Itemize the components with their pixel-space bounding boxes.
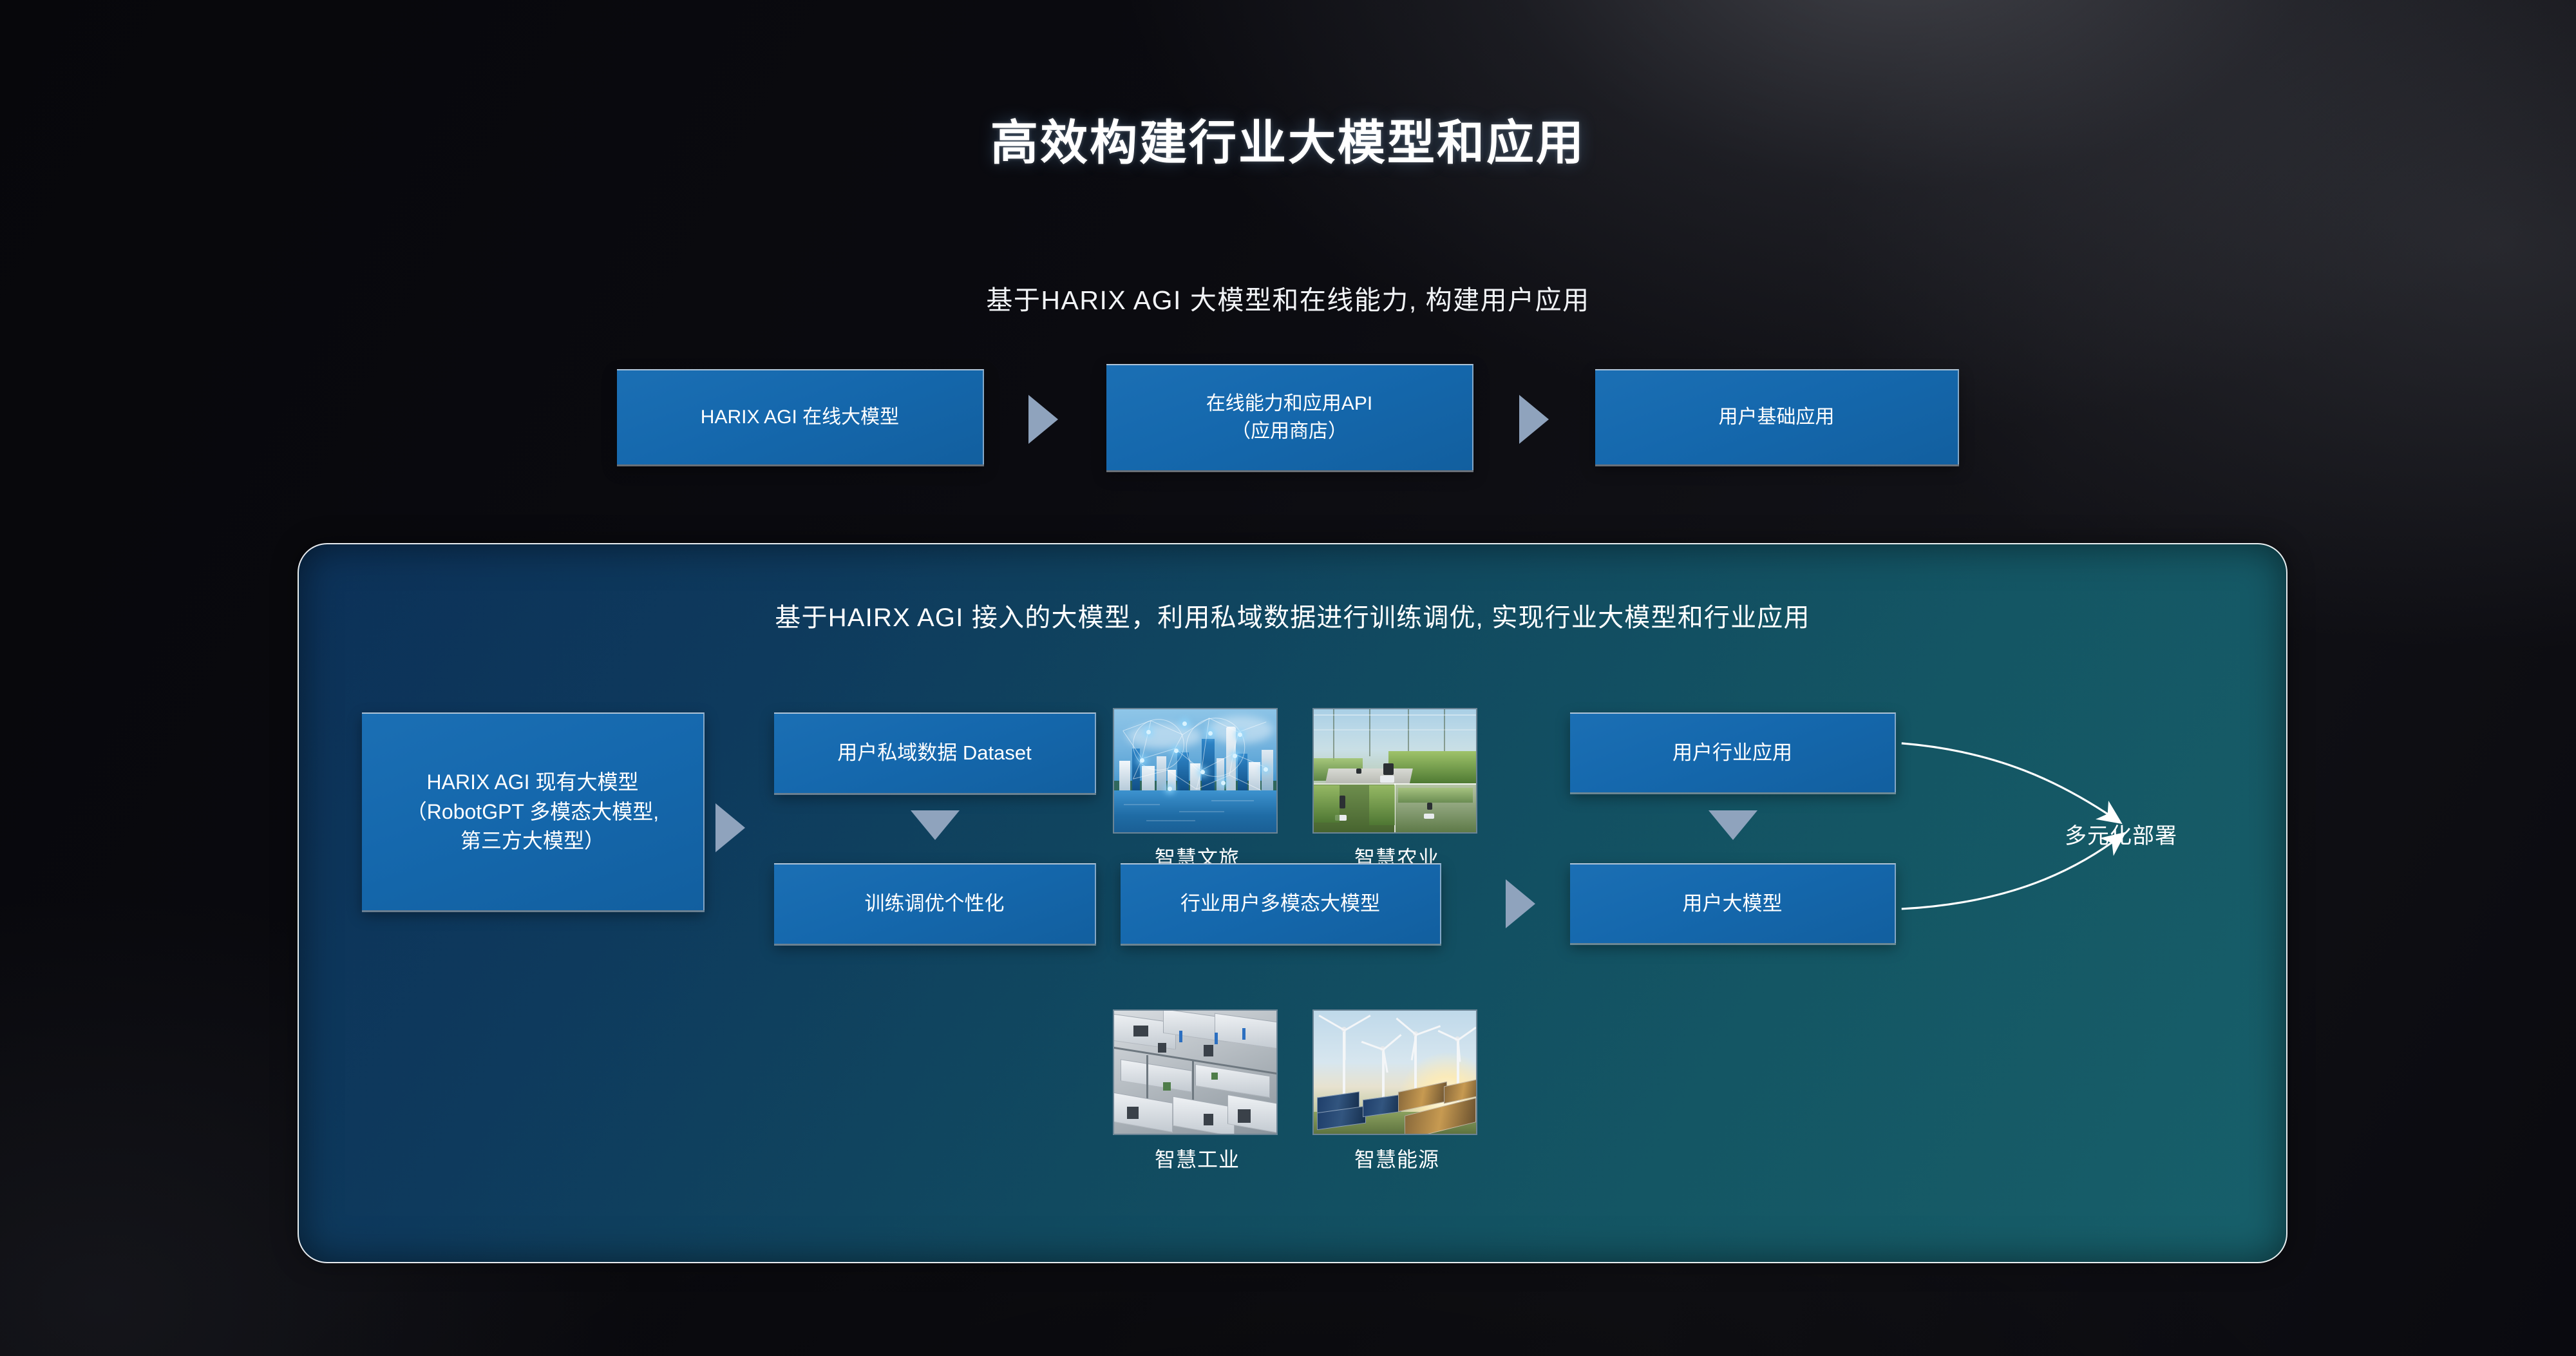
industry-model-panel: 基于HAIRX AGI 接入的大模型，利用私域数据进行训练调优, 实现行业大模型… [298,543,2287,1263]
thumbnail-smart-city[interactable] [1113,708,1278,834]
arrow-right-icon-2 [1519,395,1549,444]
panel-box-harix-existing-model-line-1: HARIX AGI 现有大模型 [417,768,649,797]
panel-box-harix-existing-model-line-2: （RobotGPT 多模态大模型, [396,797,669,826]
curved-arrow-out-icon [1902,743,2119,822]
smart-energy-image [1314,1011,1476,1134]
top-box-online-capability-api-label-2: （应用商店） [1221,418,1358,446]
top-box-user-basic-app-label: 用户基础应用 [1709,404,1845,432]
panel-box-training-tuning-label: 训练调优个性化 [855,890,1015,918]
top-box-user-basic-app[interactable]: 用户基础应用 [1595,369,1959,464]
network-lines-icon [1114,709,1276,833]
panel-heading: 基于HAIRX AGI 接入的大模型，利用私域数据进行训练调优, 实现行业大模型… [299,597,2286,634]
panel-box-user-private-dataset-label: 用户私域数据 Dataset [827,739,1041,767]
top-box-online-capability-api-label-1: 在线能力和应用API [1196,390,1383,418]
thumbnail-smart-energy[interactable] [1312,1009,1477,1135]
top-box-harix-online-model[interactable]: HARIX AGI 在线大模型 [617,369,984,464]
page-title: 高效构建行业大模型和应用 [0,104,2576,173]
panel-box-user-private-dataset[interactable]: 用户私域数据 Dataset [774,712,1096,793]
arrow-right-icon-3 [715,803,745,852]
panel-box-user-industry-app-label: 用户行业应用 [1662,739,1803,767]
thumbnail-smart-industry[interactable] [1113,1009,1278,1135]
deployment-label: 多元化部署 [2065,818,2177,850]
thumbnail-caption-smart-energy: 智慧能源 [1291,1143,1503,1173]
panel-box-harix-existing-model-line-3: 第三方大模型） [450,826,615,855]
smart-agriculture-image [1314,709,1476,832]
top-box-online-capability-api[interactable]: 在线能力和应用API （应用商店） [1106,364,1473,470]
panel-box-harix-existing-model[interactable]: HARIX AGI 现有大模型 （RobotGPT 多模态大模型, 第三方大模型… [362,712,705,910]
smart-industry-image [1114,1011,1276,1134]
smart-city-image [1114,709,1276,832]
top-box-harix-online-model-label: HARIX AGI 在线大模型 [690,404,909,432]
thumbnail-smart-agriculture[interactable] [1312,708,1477,834]
arrow-right-icon-4 [1506,879,1535,928]
thumbnail-caption-smart-industry: 智慧工业 [1091,1143,1303,1173]
panel-box-user-large-model-label: 用户大模型 [1672,890,1793,918]
page-subtitle: 基于HARIX AGI 大模型和在线能力, 构建用户应用 [0,278,2576,317]
arrow-right-icon-1 [1028,395,1058,444]
panel-box-user-large-model[interactable]: 用户大模型 [1570,863,1896,943]
arrow-down-icon-1 [911,810,960,840]
panel-box-industry-multimodal-model-label: 行业用户多模态大模型 [1170,890,1390,918]
panel-box-training-tuning[interactable]: 训练调优个性化 [774,863,1096,944]
panel-box-industry-multimodal-model[interactable]: 行业用户多模态大模型 [1121,863,1441,944]
panel-box-user-industry-app[interactable]: 用户行业应用 [1570,712,1896,792]
arrow-down-icon-2 [1709,810,1757,840]
